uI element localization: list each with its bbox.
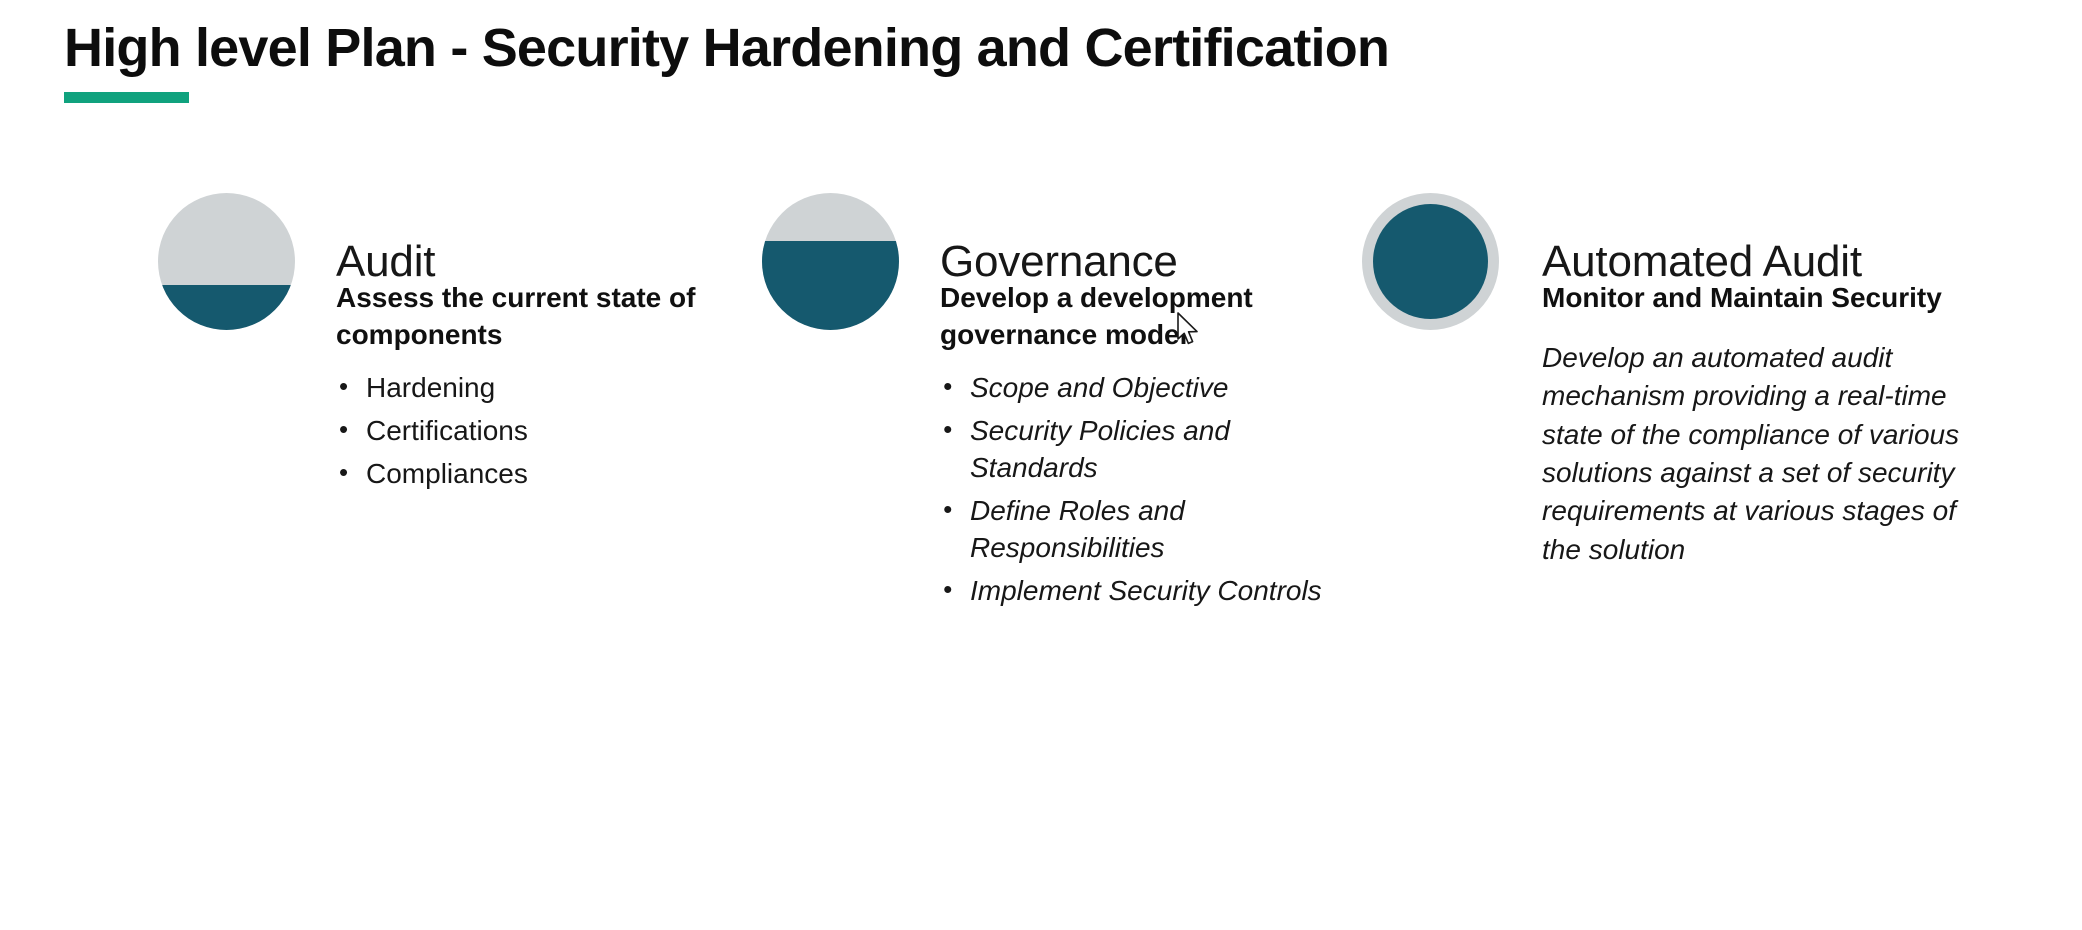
column-audit: Audit Assess the current state of compon… — [158, 185, 758, 335]
title-block: High level Plan - Security Hardening and… — [64, 18, 1389, 103]
slide-canvas: High level Plan - Security Hardening and… — [0, 0, 2082, 930]
column-subhead-automated-audit: Monitor and Maintain Security — [1542, 280, 1962, 317]
columns-container: Audit Assess the current state of compon… — [0, 185, 2082, 885]
list-item: Implement Security Controls — [940, 573, 1340, 610]
column-subhead-governance: Develop a development governance model — [940, 280, 1340, 354]
column-automated-audit: Automated Audit Monitor and Maintain Sec… — [1362, 185, 2002, 335]
column-body: Develop a development governance model S… — [940, 280, 1340, 616]
bullet-list-audit: HardeningCertificationsCompliances — [336, 370, 756, 493]
gauge-audit-icon — [158, 193, 295, 330]
gauge-automated-audit-icon — [1362, 193, 1499, 330]
list-item: Define Roles and Responsibilities — [940, 493, 1340, 567]
list-item: Security Policies and Standards — [940, 413, 1340, 487]
column-body: Monitor and Maintain Security Develop an… — [1542, 280, 1962, 569]
gauge-governance-icon — [762, 193, 899, 330]
bullet-list-governance: Scope and ObjectiveSecurity Policies and… — [940, 370, 1340, 610]
column-body: Assess the current state of components H… — [336, 280, 756, 499]
column-paragraph-automated-audit: Develop an automated audit mechanism pro… — [1542, 339, 1962, 569]
list-item: Compliances — [336, 456, 756, 493]
list-item: Certifications — [336, 413, 756, 450]
gauge-fill — [1373, 204, 1488, 319]
title-accent-bar — [64, 92, 189, 103]
gauge-fill — [762, 241, 899, 330]
page-title: High level Plan - Security Hardening and… — [64, 18, 1389, 78]
gauge-fill — [158, 285, 295, 330]
list-item: Scope and Objective — [940, 370, 1340, 407]
list-item: Hardening — [336, 370, 756, 407]
column-subhead-audit: Assess the current state of components — [336, 280, 756, 354]
column-governance: Governance Develop a development governa… — [762, 185, 1362, 335]
